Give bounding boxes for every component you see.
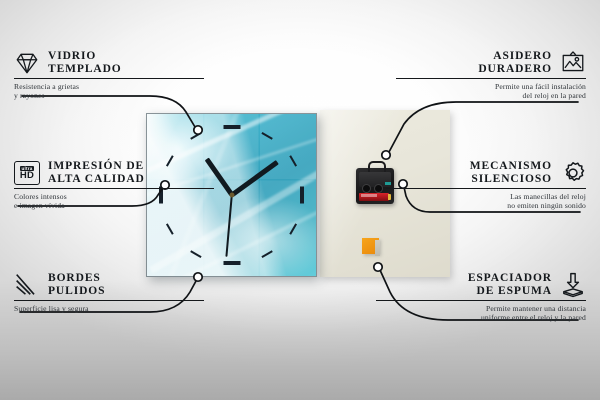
callout-desc-line2: uniforme entre el reloj y la pared	[376, 313, 586, 322]
callout-durable-hanger: ASIDERO DURADERO Permite una fácil insta…	[396, 50, 586, 101]
callout-header: VIDRIO TEMPLADO	[14, 50, 204, 76]
callout-title-line2: TEMPLADO	[48, 63, 122, 76]
callout-divider	[386, 188, 586, 189]
callout-header: BORDES PULIDOS	[14, 272, 204, 298]
callout-title-line2: DURADERO	[478, 63, 552, 76]
callout-title-line1: BORDES	[48, 272, 105, 285]
callout-silent-mechanism: MECANISMO SILENCIOSO Las manecillas del …	[386, 160, 586, 211]
callout-foam-spacer: ESPACIADOR DE ESPUMA Permite mantener un…	[376, 272, 586, 323]
callout-divider	[396, 78, 586, 79]
callout-desc-line2: del reloj en la pared	[396, 91, 586, 100]
callout-divider	[14, 188, 214, 189]
callout-title: ESPACIADOR DE ESPUMA	[468, 272, 552, 298]
callout-desc-line2: no emiten ningún sonido	[386, 201, 586, 210]
callout-divider	[14, 78, 204, 79]
callout-title-line2: PULIDOS	[48, 285, 105, 298]
callout-title-line1: MECANISMO	[470, 160, 552, 173]
callout-title-line2: ALTA CALIDAD	[48, 173, 145, 186]
ultra-hd-icon: ultra HD	[14, 161, 40, 185]
callout-desc-line2: y rayones	[14, 91, 204, 100]
leader-line-durable-hanger	[389, 102, 578, 152]
edge-lines-icon	[14, 272, 40, 298]
callout-desc-line1: Permite una fácil instalación	[396, 82, 586, 91]
callout-header: ESPACIADOR DE ESPUMA	[376, 272, 586, 298]
callout-title-line1: VIDRIO	[48, 50, 122, 63]
callout-desc-line1: Resistencia a grietas	[14, 82, 204, 91]
callout-title-line2: DE ESPUMA	[468, 285, 552, 298]
callout-desc-line1: Colores intensos	[14, 192, 214, 201]
leader-dot-durable-hanger	[382, 151, 390, 159]
callout-title: IMPRESIÓN DE ALTA CALIDAD	[48, 160, 145, 186]
leader-dot-tempered-glass	[194, 126, 202, 134]
callout-tempered-glass: VIDRIO TEMPLADO Resistencia a grietas y …	[14, 50, 204, 101]
callout-desc-line1: Permite mantener una distancia	[376, 304, 586, 313]
callout-title: BORDES PULIDOS	[48, 272, 105, 298]
callout-header: ultra HD IMPRESIÓN DE ALTA CALIDAD	[14, 160, 214, 186]
framed-picture-hook-icon	[560, 50, 586, 76]
callout-title-line2: SILENCIOSO	[470, 173, 552, 186]
callout-desc-line1: Las manecillas del reloj	[386, 192, 586, 201]
callout-header: MECANISMO SILENCIOSO	[386, 160, 586, 186]
callout-desc-line2: e imagen vívida	[14, 201, 214, 210]
diamond-icon	[14, 50, 40, 76]
callout-title: MECANISMO SILENCIOSO	[470, 160, 552, 186]
callout-title: ASIDERO DURADERO	[478, 50, 552, 76]
callout-polished-edges: BORDES PULIDOS Superficie lisa y segura	[14, 272, 204, 313]
gear-icon	[560, 160, 586, 186]
leader-dot-foam-spacer	[374, 263, 382, 271]
callout-divider	[14, 300, 204, 301]
callout-divider	[376, 300, 586, 301]
arrow-down-pad-icon	[560, 272, 586, 298]
callout-desc-line1: Superficie lisa y segura	[14, 304, 204, 313]
callout-header: ASIDERO DURADERO	[396, 50, 586, 76]
infographic-canvas: VIDRIO TEMPLADO Resistencia a grietas y …	[0, 0, 600, 400]
callout-title-line1: IMPRESIÓN DE	[48, 160, 145, 173]
ultra-hd-label: HD	[20, 171, 34, 181]
callout-hd-print: ultra HD IMPRESIÓN DE ALTA CALIDAD Color…	[14, 160, 214, 211]
callout-title-line1: ESPACIADOR	[468, 272, 552, 285]
callout-title-line1: ASIDERO	[478, 50, 552, 63]
callout-title: VIDRIO TEMPLADO	[48, 50, 122, 76]
